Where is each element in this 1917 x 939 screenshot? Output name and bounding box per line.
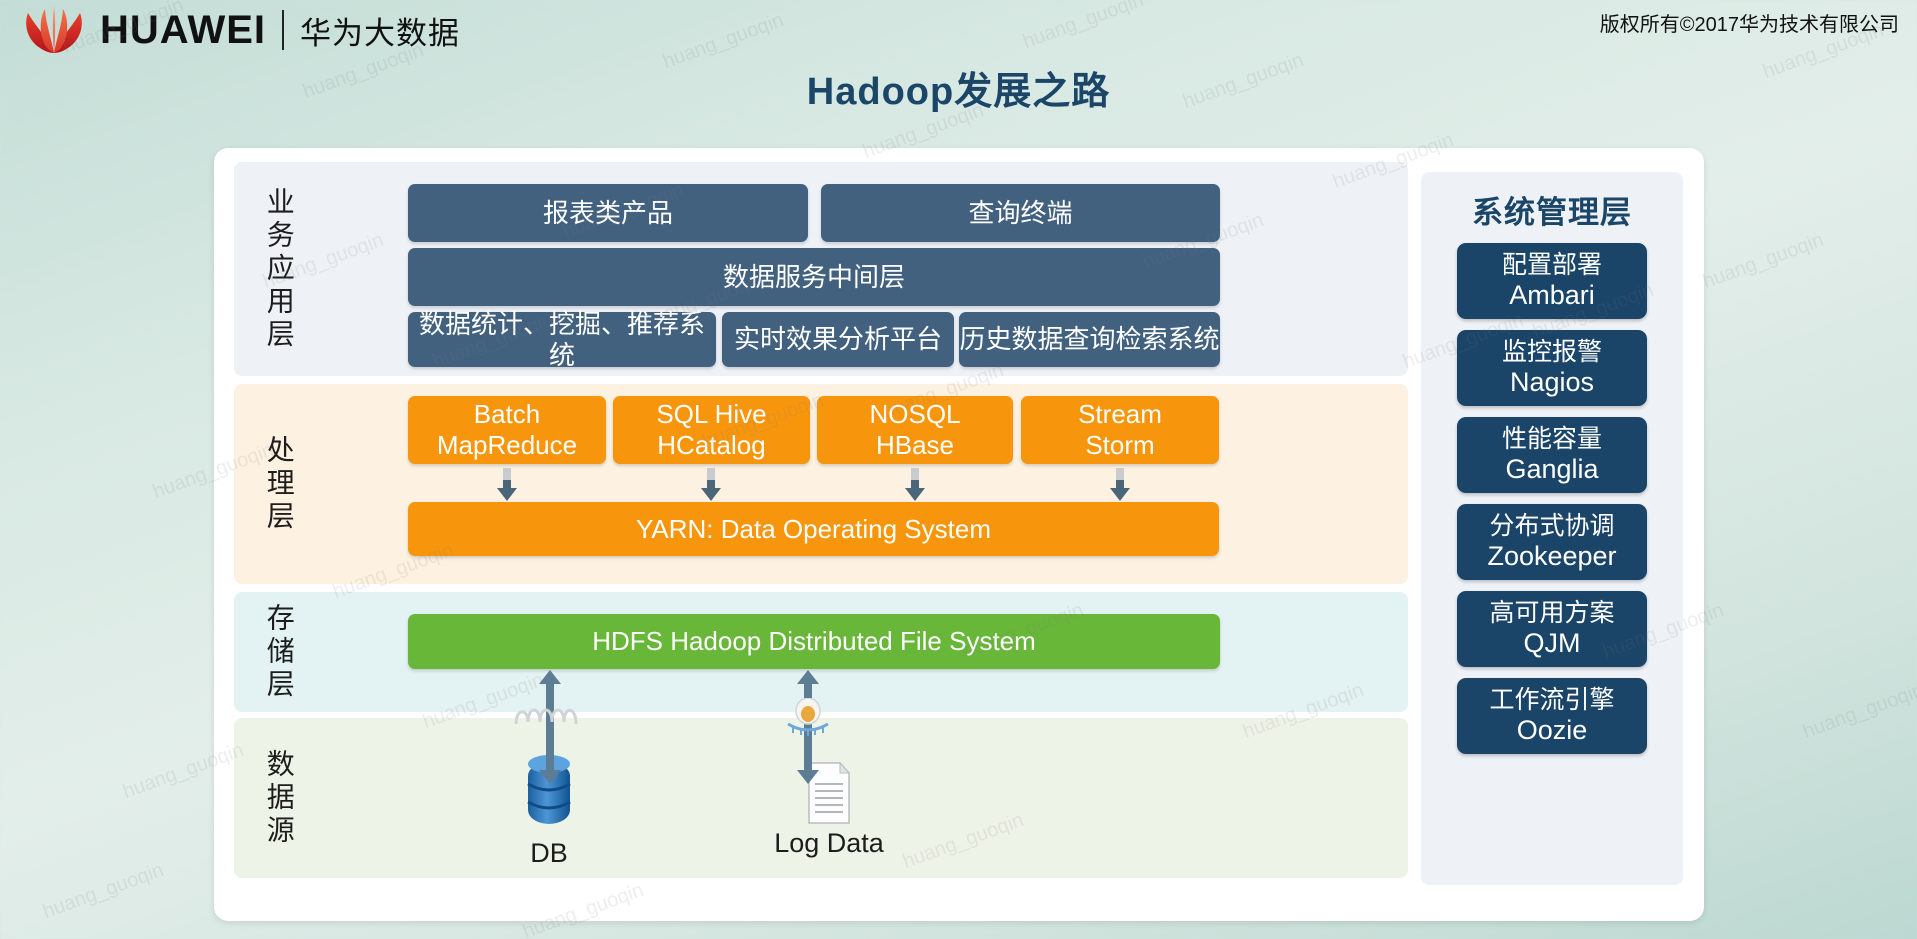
logo-divider [282,10,284,50]
arrow-down-icon [701,468,721,500]
mgmt-item-nagios[interactable]: 监控报警 Nagios [1457,330,1647,406]
arrow-down-icon [497,468,517,500]
layer-body-storage: HDFS Hadoop Distributed File System [324,592,1408,712]
layer-label-processing: 处理层 [234,384,324,584]
box-hdfs[interactable]: HDFS Hadoop Distributed File System [408,614,1220,669]
mgmt-item-qjm[interactable]: 高可用方案 QJM [1457,591,1647,667]
watermark-text: huang_guoqin [1800,679,1917,744]
box-nosql-hbase[interactable]: NOSQL HBase [817,396,1013,464]
box-realtime-analysis[interactable]: 实时效果分析平台 [722,312,954,367]
mgmt-item-oozie[interactable]: 工作流引擎 Oozie [1457,678,1647,754]
layer-label-storage: 存储层 [234,592,324,712]
sqoop-icon [514,702,586,732]
box-history-query-search[interactable]: 历史数据查询检索系统 [959,312,1220,367]
mgmt-item-qjm-cn: 高可用方案 [1489,599,1614,628]
mgmt-item-ambari-cn: 配置部署 [1502,251,1602,280]
brand-subtitle: 华为大数据 [300,8,460,53]
arrow-down-icon [1110,468,1130,500]
page-header: HUAWEI 华为大数据 版权所有©2017华为技术有限公司 [0,0,1917,62]
box-stream-line2: Storm [1078,430,1162,461]
box-sqlhive-line1: SQL Hive [656,399,766,430]
box-nosql-line2: HBase [869,430,960,461]
architecture-diagram: 业务应用层 报表类产品 查询终端 数据服务中间层 数据统计、挖掘、推荐系统 实时… [234,162,1408,902]
datasource-log-label: Log Data [754,828,904,859]
datasource-log[interactable]: Log Data [754,762,904,859]
mgmt-item-oozie-cn: 工作流引擎 [1489,686,1614,715]
management-panel-title: 系统管理层 [1421,172,1683,232]
box-data-service-middle[interactable]: 数据服务中间层 [408,248,1220,306]
box-batch-mapreduce[interactable]: Batch MapReduce [408,396,606,464]
mgmt-item-ambari-en: Ambari [1509,280,1595,311]
layer-storage: 存储层 HDFS Hadoop Distributed File System [234,592,1408,712]
mgmt-item-nagios-cn: 监控报警 [1502,338,1602,367]
layer-datasource: 数据源 [234,718,1408,878]
layer-processing: 处理层 Batch MapReduce SQL Hive HCatalog [234,384,1408,584]
mgmt-item-ganglia-cn: 性能容量 [1502,425,1602,454]
diagram-card: 业务应用层 报表类产品 查询终端 数据服务中间层 数据统计、挖掘、推荐系统 实时… [214,148,1704,921]
huawei-flower-icon [22,5,86,55]
watermark-text: huang_guoqin [1700,229,1827,294]
layer-label-datasource: 数据源 [234,718,324,878]
watermark-text: huang_guoqin [40,859,167,924]
copyright-text: 版权所有©2017华为技术有限公司 [1600,8,1899,37]
layer-label-business: 业务应用层 [234,162,324,376]
mgmt-item-qjm-en: QJM [1524,628,1581,659]
box-yarn[interactable]: YARN: Data Operating System [408,502,1219,556]
box-sqlhive-line2: HCatalog [656,430,766,461]
box-batch-line1: Batch [437,399,577,430]
mgmt-item-ambari[interactable]: 配置部署 Ambari [1457,243,1647,319]
datasource-db-label: DB [494,838,604,869]
box-nosql-line1: NOSQL [869,399,960,430]
mgmt-item-nagios-en: Nagios [1510,367,1594,398]
box-report-products[interactable]: 报表类产品 [408,184,808,242]
box-batch-line2: MapReduce [437,430,577,461]
page-title: Hadoop发展之路 [0,60,1917,115]
box-query-terminal[interactable]: 查询终端 [821,184,1220,242]
layer-business: 业务应用层 报表类产品 查询终端 数据服务中间层 数据统计、挖掘、推荐系统 实时… [234,162,1408,376]
box-stream-line1: Stream [1078,399,1162,430]
flume-icon [780,698,836,738]
arrow-down-icon [905,468,925,500]
box-sqlhive-hcatalog[interactable]: SQL Hive HCatalog [613,396,810,464]
management-panel: 系统管理层 配置部署 Ambari 监控报警 Nagios 性能容量 Gangl… [1421,172,1683,885]
layer-body-business: 报表类产品 查询终端 数据服务中间层 数据统计、挖掘、推荐系统 实时效果分析平台… [324,162,1408,376]
huawei-wordmark: HUAWEI [100,8,266,53]
mgmt-item-zookeeper-cn: 分布式协调 [1489,512,1614,541]
huawei-logo: HUAWEI 华为大数据 [22,5,460,55]
mgmt-item-ganglia[interactable]: 性能容量 Ganglia [1457,417,1647,493]
mgmt-item-oozie-en: Oozie [1517,715,1588,746]
layer-body-processing: Batch MapReduce SQL Hive HCatalog NOSQL … [324,384,1408,584]
box-stats-mining-recommend[interactable]: 数据统计、挖掘、推荐系统 [408,312,716,367]
box-stream-storm[interactable]: Stream Storm [1021,396,1219,464]
mgmt-item-ganglia-en: Ganglia [1505,454,1598,485]
layer-body-datasource: DB [324,718,1408,878]
mgmt-item-zookeeper-en: Zookeeper [1487,541,1616,572]
mgmt-item-zookeeper[interactable]: 分布式协调 Zookeeper [1457,504,1647,580]
